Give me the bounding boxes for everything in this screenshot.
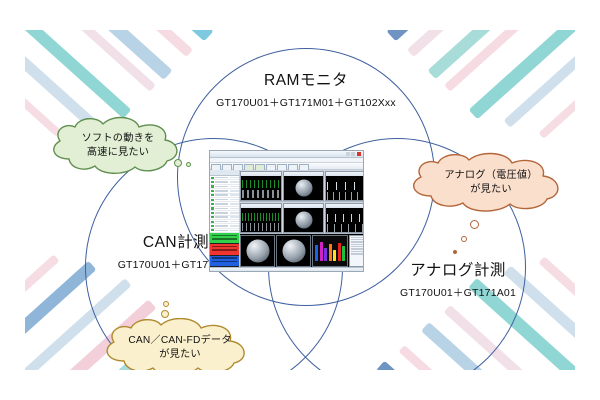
app-titlebar xyxy=(210,151,363,158)
chart-panels xyxy=(240,170,365,267)
chart-panel-row-2 xyxy=(240,202,365,234)
maximize-icon xyxy=(351,152,355,156)
bar-gauge xyxy=(315,245,318,261)
gauge-panel xyxy=(283,171,325,201)
thought-cloud-can-fd-data: CAN／CAN-FDデータ が見たい xyxy=(97,318,263,370)
cloud-green-line1: ソフトの動きを xyxy=(82,132,155,146)
slide-canvas: RAMモニタ GT170U01＋GT171M01＋GT102Xxx CAN計測 … xyxy=(25,30,575,370)
label-analog-measurement-title: アナログ計測 xyxy=(343,258,573,280)
cloud-green-line2: 高速に見たい xyxy=(87,146,149,160)
status-block-green xyxy=(210,233,239,244)
gauge-dial-large xyxy=(276,235,311,267)
chart-panel-row-1 xyxy=(240,170,365,202)
status-block-red xyxy=(210,244,239,255)
app-body xyxy=(210,170,363,267)
waveform-panel xyxy=(325,171,364,201)
bar-gauge-panel xyxy=(312,235,348,267)
chart-panel-row-3 xyxy=(240,234,365,267)
cloud-tail-bubble xyxy=(470,220,479,229)
gauge-panel xyxy=(283,203,325,233)
bar-gauge xyxy=(342,246,345,261)
status-block-blue xyxy=(210,256,239,267)
cloud-yellow-line1: CAN／CAN-FDデータ xyxy=(128,334,231,348)
bar-gauge xyxy=(333,250,336,261)
waveform-panel xyxy=(325,203,364,233)
cloud-peach-text: アナログ（電圧値） が見たい xyxy=(403,152,575,214)
app-statusbar xyxy=(210,267,363,272)
cloud-tail-bubble xyxy=(163,301,169,307)
waveform-panel xyxy=(240,171,282,201)
cloud-tail-bubble xyxy=(161,310,169,318)
variable-grid-panel xyxy=(210,170,240,267)
properties-sidepanel xyxy=(349,235,364,267)
bar-gauge xyxy=(329,244,332,261)
cloud-green-text: ソフトの動きを 高速に見たい xyxy=(43,115,193,177)
cloud-tail-bubble xyxy=(453,250,457,254)
waveform-panel xyxy=(240,203,282,233)
gauge-dial-large xyxy=(240,235,275,267)
label-ram-monitor: RAMモニタ GT170U01＋GT171M01＋GT102Xxx xyxy=(156,68,456,110)
app-toolbar xyxy=(210,163,363,170)
bar-gauge xyxy=(320,242,323,261)
label-ram-monitor-title: RAMモニタ xyxy=(156,68,456,90)
label-analog-measurement-code: GT170U01＋GT171A01 xyxy=(343,285,573,300)
label-ram-monitor-code: GT170U01＋GT171M01＋GT102Xxx xyxy=(156,95,456,110)
minimize-icon xyxy=(346,152,350,156)
cloud-yellow-text: CAN／CAN-FDデータ が見たい xyxy=(97,318,263,370)
cloud-yellow-line2: が見たい xyxy=(159,348,201,362)
cloud-tail-bubble xyxy=(186,162,191,167)
cloud-tail-bubble xyxy=(461,236,467,242)
cloud-peach-line1: アナログ（電圧値） xyxy=(444,169,537,183)
bar-gauge xyxy=(338,243,341,261)
thought-cloud-analog-voltage: アナログ（電圧値） が見たい xyxy=(403,152,575,214)
label-analog-measurement: アナログ計測 GT170U01＋GT171A01 xyxy=(343,258,573,300)
cloud-peach-line2: が見たい xyxy=(470,183,512,197)
close-icon xyxy=(357,152,361,156)
thought-cloud-software-speed: ソフトの動きを 高速に見たい xyxy=(43,115,193,177)
status-blocks xyxy=(210,233,239,267)
cloud-tail-bubble xyxy=(174,159,182,167)
measurement-software-screenshot xyxy=(209,150,364,272)
grid-rows xyxy=(210,176,239,233)
bar-gauge xyxy=(324,248,327,261)
